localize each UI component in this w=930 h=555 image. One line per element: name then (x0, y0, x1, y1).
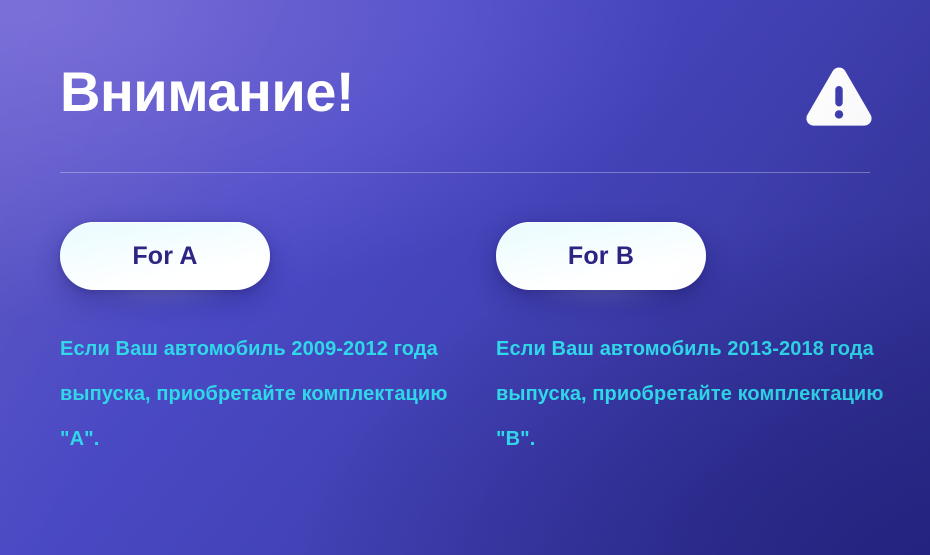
option-a-description: Если Ваш автомобиль 2009-2012 года выпус… (60, 327, 460, 462)
header-divider (60, 172, 870, 173)
banner-header: Внимание! (60, 58, 874, 134)
option-column-a: For A Если Ваш автомобиль 2009-2012 года… (60, 222, 460, 462)
pill-wrapper-b: For B (496, 222, 706, 290)
page-title: Внимание! (60, 58, 354, 126)
pill-wrapper-a: For A (60, 222, 270, 290)
for-b-button[interactable]: For B (496, 222, 706, 290)
warning-triangle-icon (804, 64, 874, 128)
for-a-button[interactable]: For A (60, 222, 270, 290)
option-column-b: For B Если Ваш автомобиль 2013-2018 года… (496, 222, 896, 462)
warning-banner: Внимание! For A Если Ваш автомобиль 2009… (0, 0, 930, 555)
option-b-description: Если Ваш автомобиль 2013-2018 года выпус… (496, 327, 896, 462)
